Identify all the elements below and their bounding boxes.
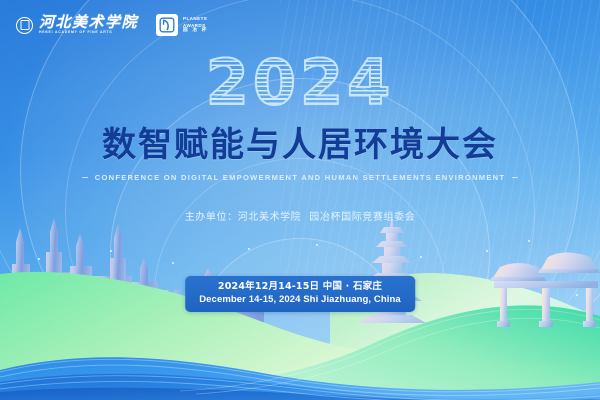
date-cn: 2024年12月14-15日 中国 · 石家庄: [199, 281, 401, 294]
page-title: 数智赋能与人居环境大会: [0, 126, 600, 165]
year-heading: 2024: [206, 52, 395, 114]
organizer-name-2: 园冶杯国际竞赛组委会: [309, 212, 415, 223]
subtitle-rule-right: [512, 177, 518, 178]
organizer-name-1: 河北美术学院: [238, 212, 302, 223]
monuments-group: [350, 205, 600, 340]
logo-yuanye-awards[interactable]: PLANETS AWARDS 园 冶 杯: [156, 14, 208, 36]
logo-yuanye-cn: 园 冶 杯: [183, 29, 208, 34]
logo-hebei-academy[interactable]: 河北美术学院 HEBEI ACADEMY OF FINE ARTS: [16, 15, 138, 34]
subtitle-rule-left: [82, 177, 88, 178]
yuanye-mark-icon: [156, 14, 178, 36]
logo-hebei-academy-cn: 河北美术学院: [39, 15, 138, 30]
organizer-line: 主办单位：河北美术学院园冶杯国际竞赛组委会: [0, 208, 600, 223]
header-logos: 河北美术学院 HEBEI ACADEMY OF FINE ARTS PLANET…: [16, 14, 208, 36]
subtitle-row: CONFERENCE ON DIGITAL EMPOWERMENT AND HU…: [0, 174, 600, 182]
seal-emblem-icon: [16, 17, 33, 34]
logo-yuanye-en-1: PLANETS: [183, 16, 208, 21]
subtitle-en: CONFERENCE ON DIGITAL EMPOWERMENT AND HU…: [95, 174, 506, 182]
logo-hebei-academy-en: HEBEI ACADEMY OF FINE ARTS: [39, 31, 138, 34]
date-en: December 14-15, 2024 Shi Jiazhuang, Chin…: [199, 294, 401, 306]
conference-poster: 河北美术学院 HEBEI ACADEMY OF FINE ARTS PLANET…: [0, 0, 600, 400]
year-heading-wrap: 2024: [0, 52, 600, 114]
date-badge: 2024年12月14-15日 中国 · 石家庄 December 14-15, …: [185, 276, 415, 312]
organizer-label: 主办单位：: [185, 212, 238, 223]
